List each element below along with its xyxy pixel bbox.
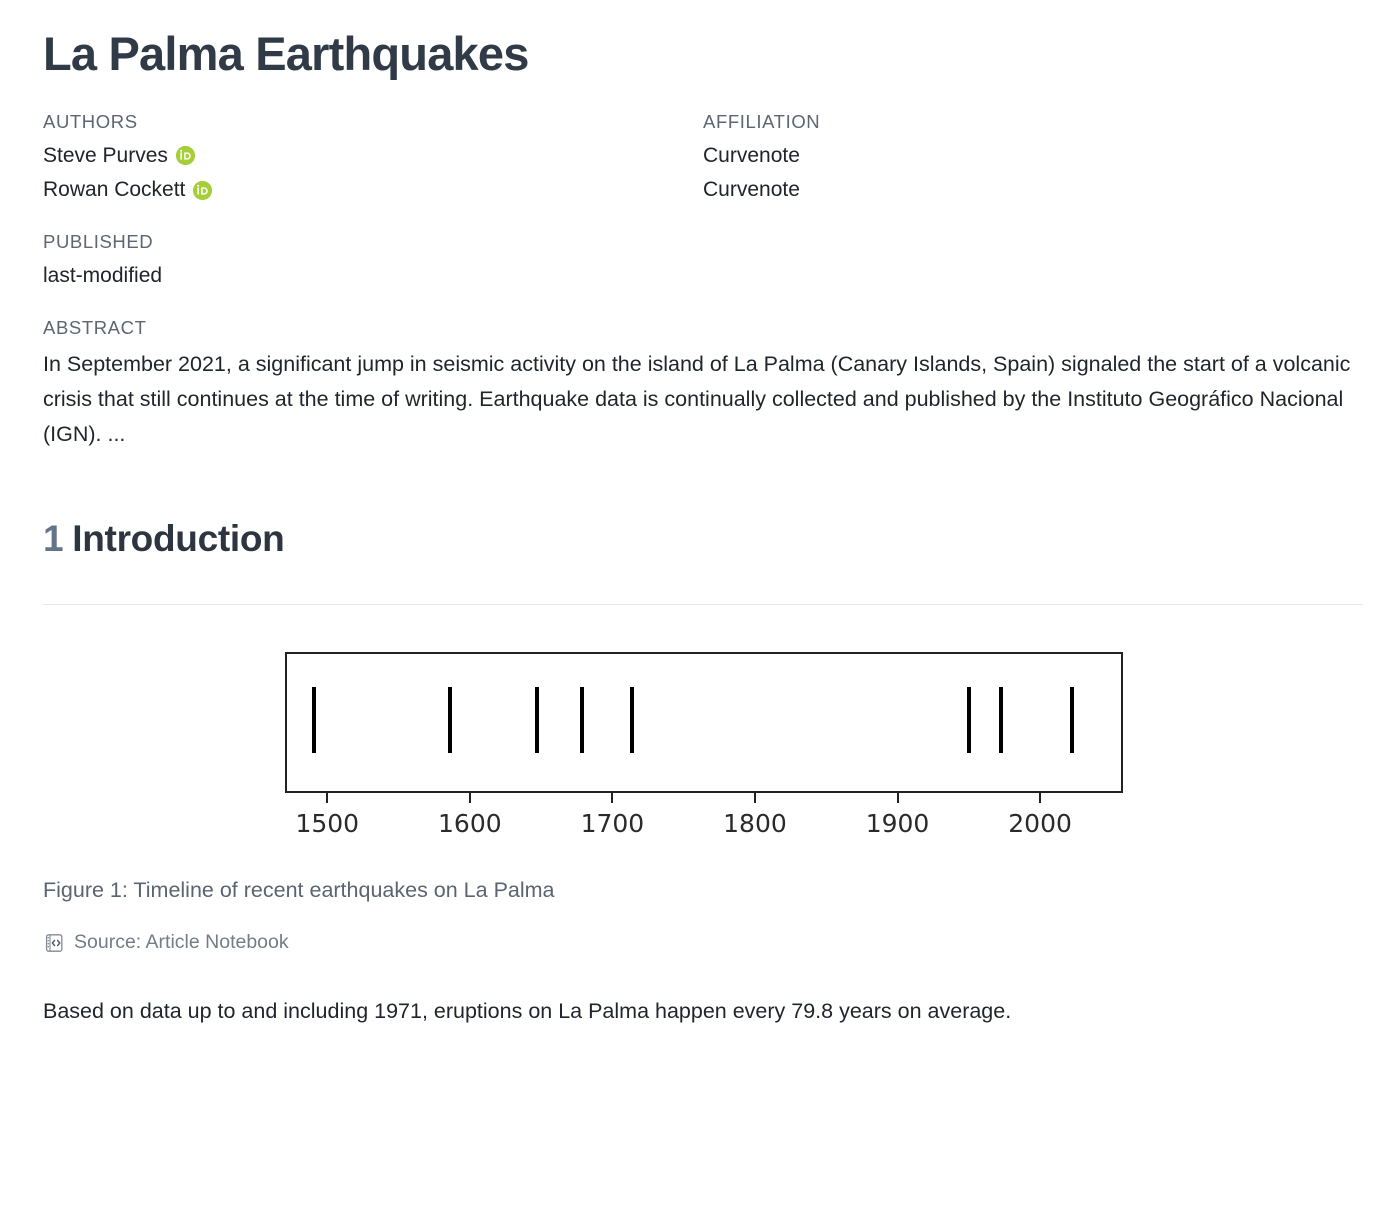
rug-tick — [312, 687, 316, 753]
figure-source-label: Source: Article Notebook — [74, 931, 289, 954]
plot-x-axis-labels: 150016001700180019002000 — [285, 809, 1123, 843]
published-value: last-modified — [43, 261, 1364, 291]
axis-tick — [469, 793, 471, 803]
rug-tick — [999, 687, 1003, 753]
section-heading: 1Introduction — [43, 518, 1364, 574]
affiliation-value: Curvenote — [703, 141, 1364, 171]
plot-x-axis — [285, 793, 1123, 805]
section-title: Introduction — [72, 518, 284, 559]
rug-tick — [630, 687, 634, 753]
orcid-icon[interactable] — [176, 146, 195, 165]
rug-tick — [580, 687, 584, 753]
axis-tick-label: 1500 — [295, 809, 359, 838]
axis-tick — [1039, 793, 1041, 803]
body-paragraph: Based on data up to and including 1971, … — [43, 994, 1293, 1029]
rug-tick — [967, 687, 971, 753]
abstract-label: ABSTRACT — [43, 317, 1364, 339]
plot-frame — [285, 652, 1123, 793]
notebook-code-icon — [43, 932, 65, 954]
rug-tick — [448, 687, 452, 753]
axis-tick — [754, 793, 756, 803]
author-name: Steve Purves — [43, 141, 168, 171]
axis-tick — [326, 793, 328, 803]
affiliation-label: AFFILIATION — [703, 111, 1364, 133]
article-page: La Palma Earthquakes AUTHORS Steve Purve… — [0, 0, 1382, 1029]
axis-tick — [897, 793, 899, 803]
author-name: Rowan Cockett — [43, 175, 185, 205]
timeline-plot: 150016001700180019002000 — [285, 652, 1123, 843]
axis-tick-label: 2000 — [1008, 809, 1072, 838]
authors-block: AUTHORS Steve Purves Rowan Cockett — [43, 111, 703, 206]
affiliation-block: AFFILIATION Curvenote Curvenote — [703, 111, 1364, 206]
orcid-icon[interactable] — [193, 181, 212, 200]
figure-1: 150016001700180019002000 Figure 1: Timel… — [43, 652, 1364, 954]
published-block: PUBLISHED last-modified — [43, 231, 1364, 291]
section-number: 1 — [43, 518, 63, 559]
frontmatter: AUTHORS Steve Purves Rowan Cockett — [43, 111, 1364, 452]
axis-tick-label: 1600 — [438, 809, 502, 838]
page-title: La Palma Earthquakes — [43, 28, 1364, 81]
section-divider — [43, 604, 1363, 605]
abstract-block: ABSTRACT In September 2021, a significan… — [43, 317, 1364, 451]
rug-tick — [535, 687, 539, 753]
rug-tick — [1070, 687, 1074, 753]
axis-tick-label: 1700 — [581, 809, 645, 838]
published-label: PUBLISHED — [43, 231, 1364, 253]
axis-tick — [611, 793, 613, 803]
authors-label: AUTHORS — [43, 111, 703, 133]
figure-caption: Figure 1: Timeline of recent earthquakes… — [43, 875, 1364, 905]
affiliation-value: Curvenote — [703, 175, 1364, 205]
author-entry: Steve Purves — [43, 141, 703, 171]
frontmatter-top-row: AUTHORS Steve Purves Rowan Cockett — [43, 111, 1364, 206]
figure-source[interactable]: Source: Article Notebook — [43, 931, 1364, 954]
author-entry: Rowan Cockett — [43, 175, 703, 205]
axis-tick-label: 1800 — [723, 809, 787, 838]
figure-plot-area: 150016001700180019002000 — [43, 652, 1364, 843]
axis-tick-label: 1900 — [866, 809, 930, 838]
abstract-text: In September 2021, a significant jump in… — [43, 347, 1353, 451]
